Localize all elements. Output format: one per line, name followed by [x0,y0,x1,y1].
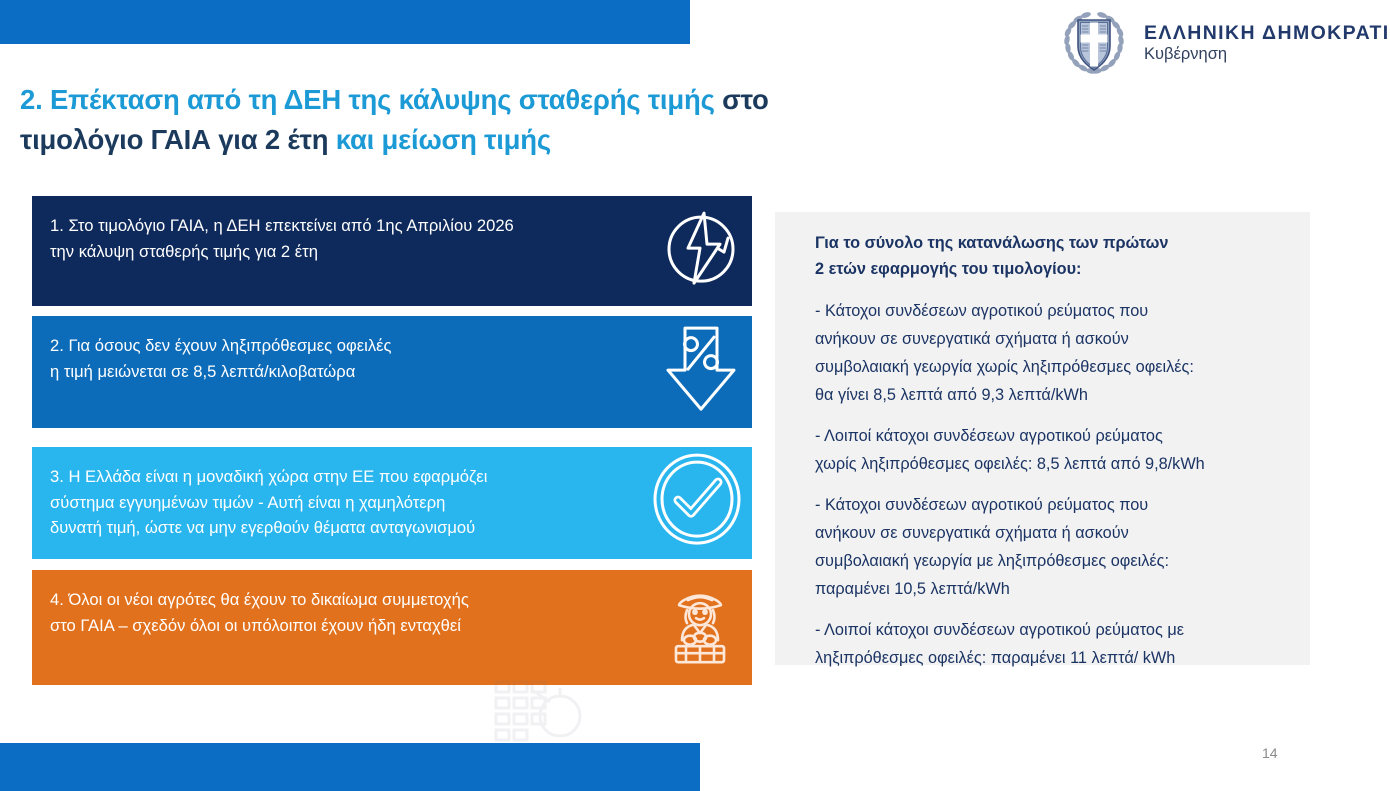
details-item-1-line-4: θα γίνει 8,5 λεπτά από 9,3 λεπτά/kWh [815,381,1288,409]
details-item-3-line-3: συμβολαιακή γεωργία με ληξιπρόθεσμες οφε… [815,547,1288,575]
top-accent-bar [0,0,690,44]
details-item-2-line-2: χωρίς ληξιπρόθεσμες οφειλές: 8,5 λεπτά α… [815,450,1288,478]
details-item-4: - Λοιποί κάτοχοι συνδέσεων αγροτικού ρεύ… [815,616,1288,672]
logo-title: ΕΛΛΗΝΙΚΗ ΔΗΜΟΚΡΑΤΙΑ [1144,22,1390,44]
details-panel-heading: Για το σύνολο της κατανάλωσης των πρώτων… [815,230,1288,283]
details-item-3-line-2: ανήκουν σε συνεργατικά σχήματα ή ασκούν [815,519,1288,547]
info-box-3-line-2: σύστημα εγγυημένων τιμών - Αυτή είναι η … [50,490,642,516]
info-box-4-line-1: 4. Όλοι οι νέοι αγρότες θα έχουν το δικα… [50,587,642,613]
logo-subtitle: Κυβέρνηση [1144,45,1227,63]
info-box-1-line-1: 1. Στο τιμολόγιο ΓΑΙΑ, η ΔΕΗ επεκτείνει … [50,213,642,239]
details-item-1-line-1: - Κάτοχοι συνδέσεων αγροτικού ρεύματος π… [815,297,1288,325]
details-item-3-line-1: - Κάτοχοι συνδέσεων αγροτικού ρεύματος π… [815,491,1288,519]
hellenic-republic-logo: ΕΛΛΗΝΙΚΗ ΔΗΜΟΚΡΑΤΙΑ Κυβέρνηση [1058,8,1390,78]
info-box-3-line-1: 3. Η Ελλάδα είναι η μοναδική χώρα στην Ε… [50,464,642,490]
details-item-2-line-1: - Λοιποί κάτοχοι συνδέσεων αγροτικού ρεύ… [815,422,1288,450]
details-item-1: - Κάτοχοι συνδέσεων αγροτικού ρεύματος π… [815,297,1288,409]
details-item-1-line-3: συμβολαιακή γεωργία χωρίς ληξιπρόθεσμες … [815,353,1288,381]
details-item-3-line-4: παραμένει 10,5 λεπτά/kWh [815,575,1288,603]
info-box-2: 2. Για όσους δεν έχουν ληξιπρόθεσμες οφε… [32,316,752,428]
info-box-1-line-2: την κάλυψη σταθερής τιμής για 2 έτη [50,239,642,265]
info-box-4: 4. Όλοι οι νέοι αγρότες θα έχουν το δικα… [32,570,752,685]
details-item-2: - Λοιποί κάτοχοι συνδέσεων αγροτικού ρεύ… [815,422,1288,478]
details-item-3: - Κάτοχοι συνδέσεων αγροτικού ρεύματος π… [815,491,1288,603]
title-line1-dark: στο [715,84,769,115]
title-line2-accent: και μείωση τιμής [336,124,551,155]
bottom-accent-bar [0,743,700,791]
details-item-1-line-2: ανήκουν σε συνεργατικά σχήματα ή ασκούν [815,325,1288,353]
details-panel: Για το σύνολο της κατανάλωσης των πρώτων… [775,212,1310,665]
info-box-3: 3. Η Ελλάδα είναι η μοναδική χώρα στην Ε… [32,447,752,559]
greek-coat-of-arms-icon [1058,8,1130,78]
details-item-4-line-2: ληξιπρόθεσμες οφειλές: παραμένει 11 λεπτ… [815,644,1288,672]
title-line2-dark: τιμολόγιο ΓΑΙΑ για 2 έτη [20,124,336,155]
details-item-4-line-1: - Λοιποί κάτοχοι συνδέσεων αγροτικού ρεύ… [815,616,1288,644]
info-box-4-line-2: στο ΓΑΙΑ – σχεδόν όλοι οι υπόλοιποι έχου… [50,613,642,639]
logo-text-block: ΕΛΛΗΝΙΚΗ ΔΗΜΟΚΡΑΤΙΑ Κυβέρνηση [1144,22,1390,64]
slide-title: 2. Επέκταση από τη ΔΕΗ της κάλυψης σταθε… [20,80,1020,160]
lightning-bolt-icon [658,204,744,298]
details-heading-line-2: 2 ετών εφαρμογής του τιμολογίου: [815,256,1288,282]
percent-down-arrow-icon [658,322,744,422]
title-line1-accent: 2. Επέκταση από τη ΔΕΗ της κάλυψης σταθε… [20,84,715,115]
page-number: 14 [1262,745,1278,761]
check-circle-icon [650,452,744,554]
government-watermark-icon [492,676,584,748]
farmer-icon [656,580,744,676]
info-box-3-line-3: δυνατή τιμή, ώστε να μην εγερθούν θέματα… [50,515,642,541]
info-box-1: 1. Στο τιμολόγιο ΓΑΙΑ, η ΔΕΗ επεκτείνει … [32,196,752,306]
details-heading-line-1: Για το σύνολο της κατανάλωσης των πρώτων [815,230,1288,256]
info-box-2-line-2: η τιμή μειώνεται σε 8,5 λεπτά/κιλοβατώρα [50,359,642,385]
info-box-2-line-1: 2. Για όσους δεν έχουν ληξιπρόθεσμες οφε… [50,333,642,359]
